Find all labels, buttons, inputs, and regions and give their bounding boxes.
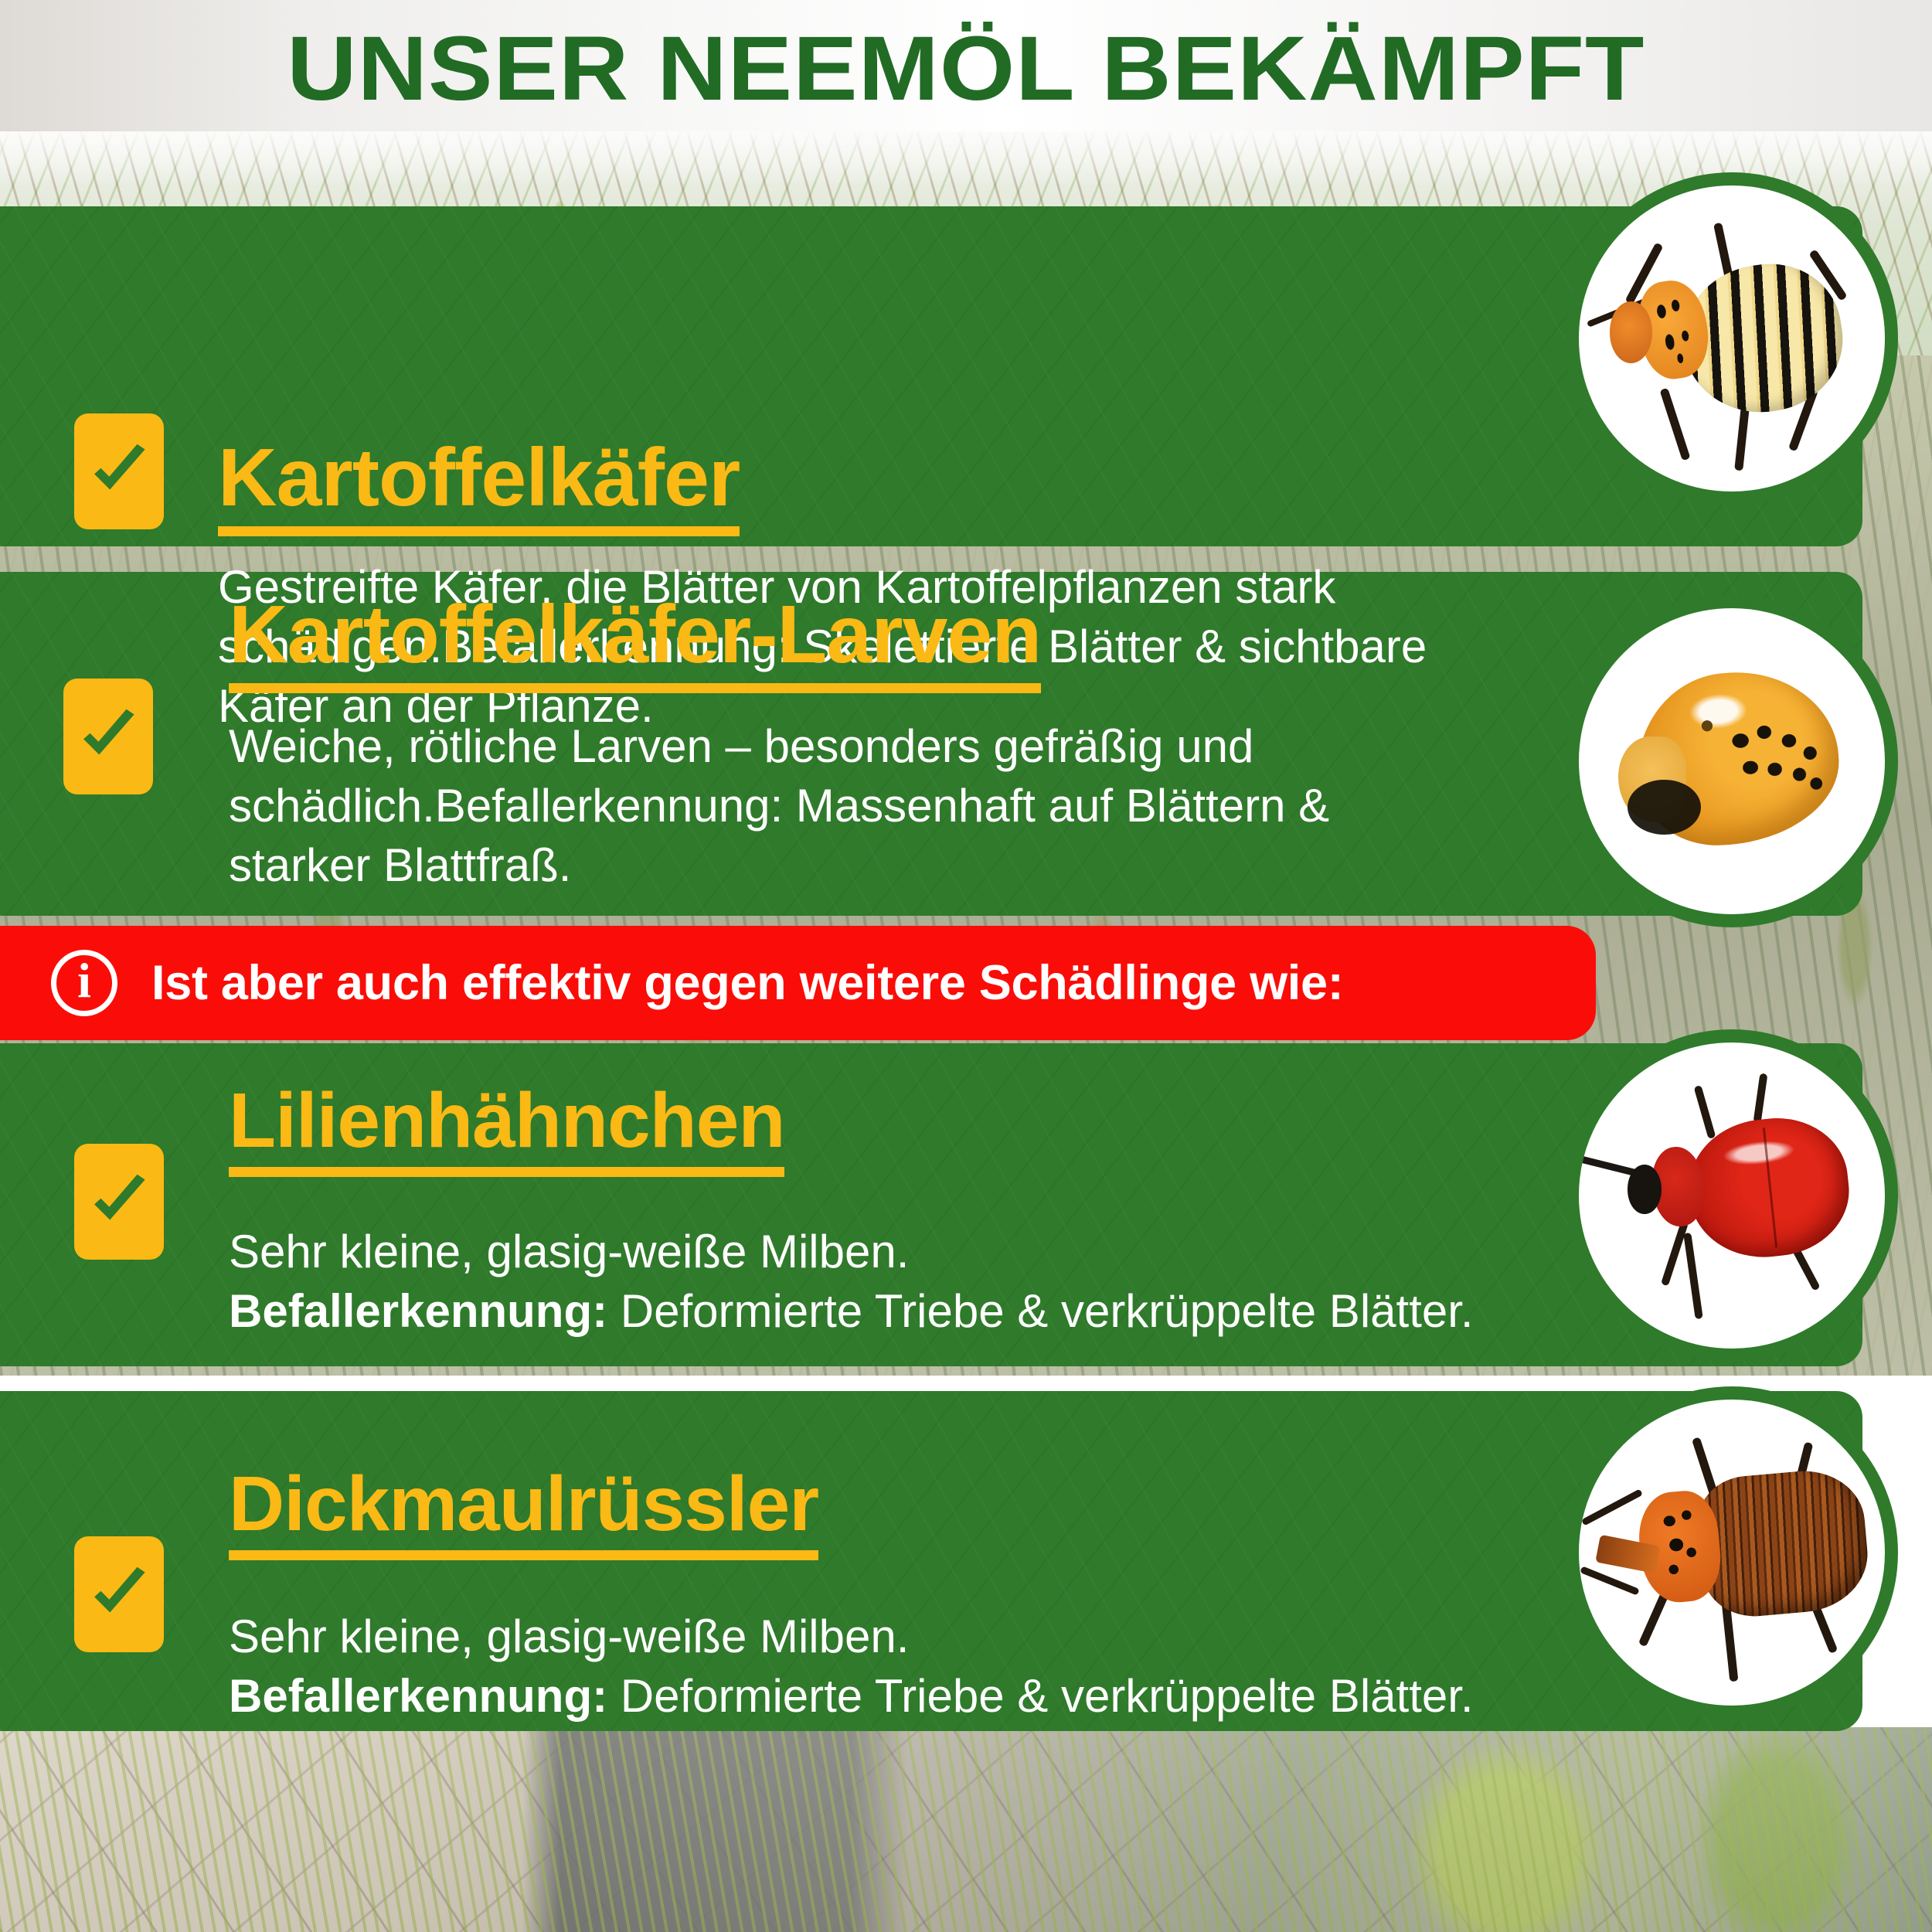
description-line-1: Sehr kleine, glasig-weiße Milben. (229, 1226, 909, 1277)
pest-photo-lilienhaehnchen (1566, 1029, 1898, 1362)
description-line-2: Deformierte Triebe & verkrüppelte Blätte… (607, 1285, 1474, 1337)
check-icon (87, 1169, 151, 1234)
pest-name-text: Kartoffelkäfer (218, 432, 740, 523)
description-label: Befallerkennung: (229, 1670, 607, 1722)
beetle-illustration (1579, 185, 1885, 492)
pest-name-text: Kartoffelkäfer-Larven (229, 589, 1041, 680)
larva-illustration (1579, 608, 1885, 914)
pest-card-kartoffelkaefer: Kartoffelkäfer Gestreifte Käfer, die Blä… (0, 206, 1862, 546)
info-icon: i (51, 950, 117, 1016)
pest-description: Sehr kleine, glasig-weiße Milben. Befall… (229, 1223, 1573, 1342)
pest-name-text: Lilienhähnchen (229, 1077, 784, 1164)
pest-photo-dickmaulruessler (1566, 1386, 1898, 1719)
description-line-2: Deformierte Triebe & verkrüppelte Blätte… (607, 1670, 1474, 1722)
header: UNSER NEEMÖL BEKÄMPFT (0, 0, 1932, 138)
info-banner: i Ist aber auch effektiv gegen weitere S… (0, 926, 1596, 1040)
pest-card-kartoffelkaefer-larven: Kartoffelkäfer-Larven Weiche, rötliche L… (0, 572, 1862, 916)
description-line-1: Weiche, rötliche Larven – besonders gefr… (229, 720, 1253, 772)
heading-underline (229, 683, 1041, 693)
garden-haze-overlay (0, 1727, 1932, 1932)
heading-underline (229, 1550, 818, 1560)
pest-description: Sehr kleine, glasig-weiße Milben. Befall… (229, 1607, 1573, 1726)
larva-legs (1628, 780, 1701, 835)
pest-description: Weiche, rötliche Larven – besonders gefr… (229, 717, 1527, 895)
lily-beetle-illustration (1579, 1043, 1885, 1349)
weevil-illustration (1579, 1400, 1885, 1706)
checkmark-badge (74, 1536, 164, 1652)
pest-name-heading: Kartoffelkäfer-Larven (229, 594, 1041, 693)
info-icon-glyph: i (77, 956, 91, 1005)
checkmark-badge (63, 679, 153, 794)
weevil-elytra (1696, 1466, 1872, 1621)
check-icon (76, 704, 141, 769)
beetle-head (1610, 301, 1652, 362)
heading-underline (218, 526, 740, 536)
description-line-1: Sehr kleine, glasig-weiße Milben. (229, 1611, 909, 1662)
heading-underline (229, 1167, 784, 1177)
checkmark-badge (74, 413, 164, 529)
pest-name-heading: Kartoffelkäfer (218, 437, 740, 536)
pest-card-dickmaulruessler: Dickmaulrüssler Sehr kleine, glasig-weiß… (0, 1391, 1862, 1731)
pest-photo-kartoffelkaefer (1566, 172, 1898, 505)
pest-name-heading: Dickmaulrüssler (229, 1465, 818, 1560)
pest-card-lilienhaehnchen: Lilienhähnchen Sehr kleine, glasig-weiße… (0, 1043, 1862, 1366)
lily-beetle-head (1628, 1165, 1662, 1213)
check-icon (87, 439, 151, 504)
description-line-3: starker Blattfraß. (229, 839, 571, 891)
checkmark-badge (74, 1144, 164, 1260)
pest-photo-larve (1566, 595, 1898, 927)
info-banner-text: Ist aber auch effektiv gegen weitere Sch… (151, 955, 1343, 1011)
description-line-2: schädlich.Befallerkennung: Massenhaft au… (229, 780, 1329, 832)
description-label: Befallerkennung: (229, 1285, 607, 1337)
check-icon (87, 1562, 151, 1627)
pest-name-text: Dickmaulrüssler (229, 1461, 818, 1547)
pest-name-heading: Lilienhähnchen (229, 1082, 784, 1177)
page-title: UNSER NEEMÖL BEKÄMPFT (287, 23, 1645, 114)
foliage-fade-overlay (0, 131, 1932, 185)
